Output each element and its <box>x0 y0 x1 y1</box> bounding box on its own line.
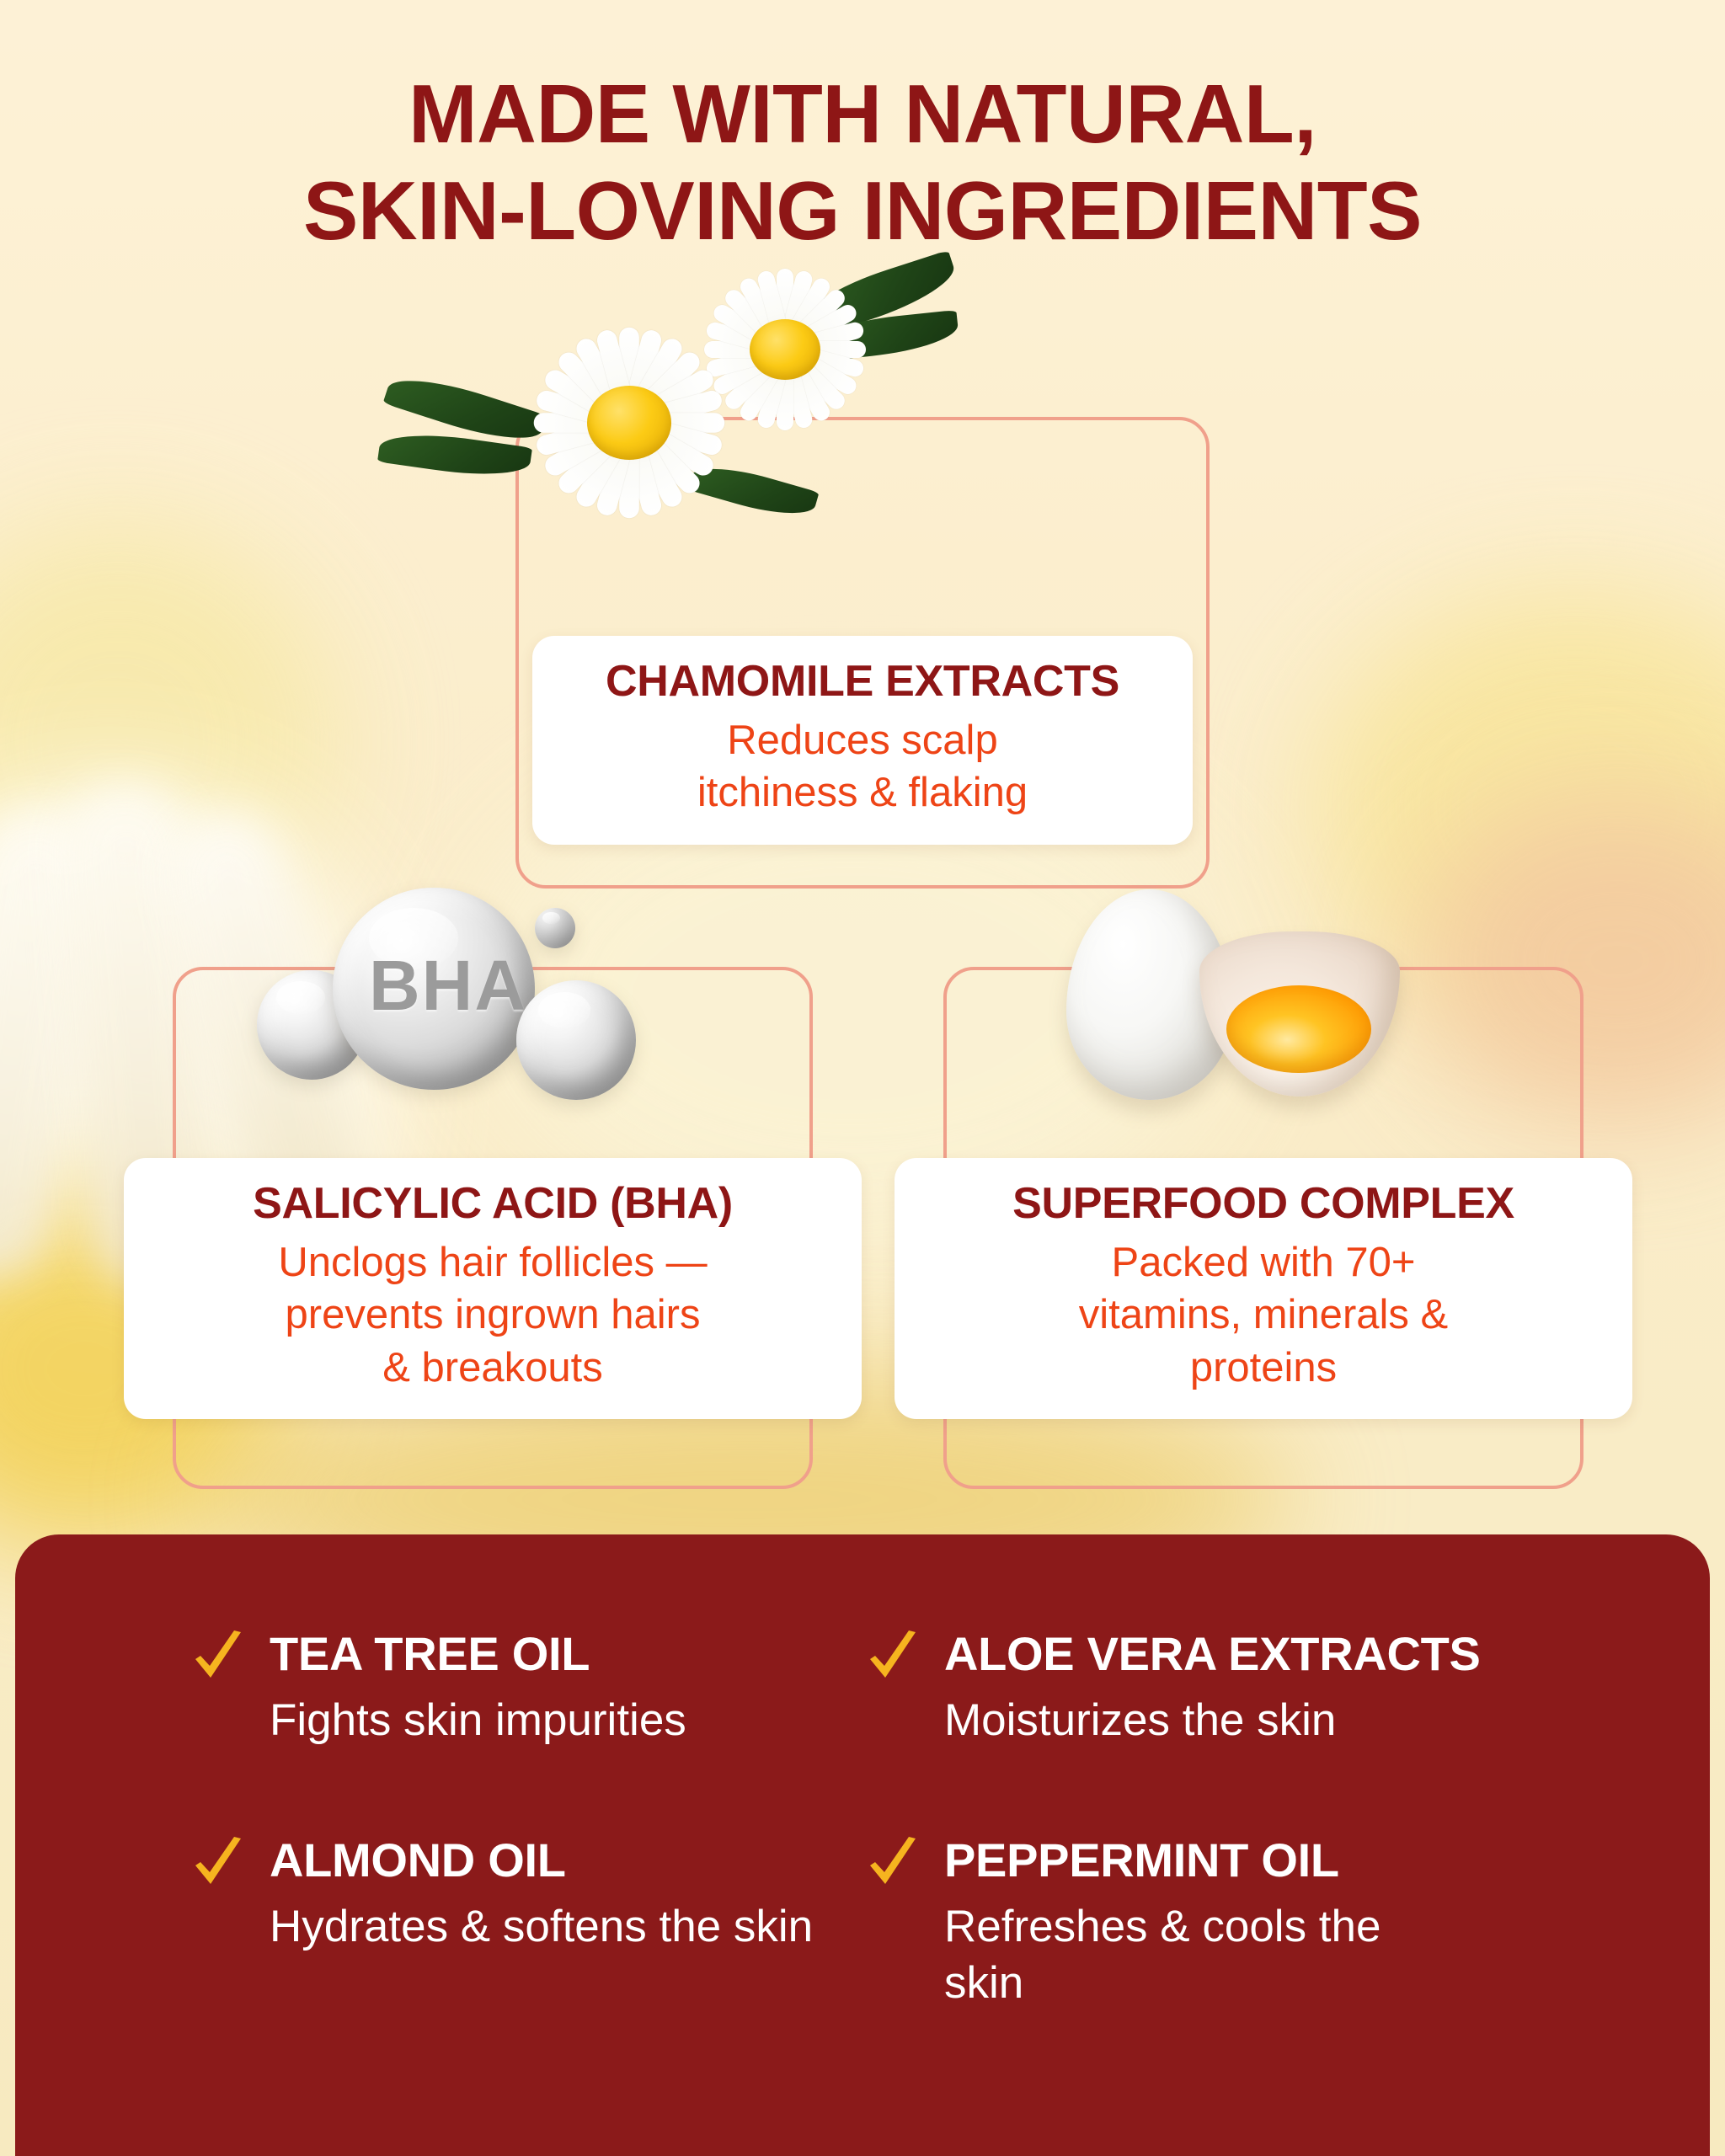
ingredient-desc-salicylic-acid-line-2: prevents ingrown hairs <box>142 1289 843 1341</box>
ingredient-card-superfood-complex[interactable]: SUPERFOOD COMPLEX Packed with 70+ vitami… <box>943 967 1583 1489</box>
card-info-superfood-complex: SUPERFOOD COMPLEX Packed with 70+ vitami… <box>895 1158 1632 1419</box>
ingredient-desc-salicylic-acid: Unclogs hair follicles — prevents ingrow… <box>142 1236 843 1394</box>
ingredient-card-chamomile[interactable]: CHAMOMILE EXTRACTS Reduces scalp itchine… <box>515 417 1210 889</box>
page-title-line-2: SKIN-LOVING INGREDIENTS <box>0 163 1725 259</box>
page-title-line-1: MADE WITH NATURAL, <box>0 66 1725 163</box>
benefit-item-aloe-vera-extracts[interactable]: ALOE VERA EXTRACTS Moisturizes the skin <box>867 1629 1541 1749</box>
ingredient-desc-chamomile: Reduces scalp itchiness & flaking <box>551 714 1174 819</box>
ingredients-infographic: MADE WITH NATURAL, SKIN-LOVING INGREDIEN… <box>0 0 1725 2156</box>
ingredient-desc-superfood-complex-line-1: Packed with 70+ <box>913 1236 1614 1289</box>
benefit-item-peppermint-oil[interactable]: PEPPERMINT OIL Refreshes & cools the ski… <box>867 1835 1541 2012</box>
check-icon <box>867 1835 919 1894</box>
ingredient-desc-superfood-complex-line-2: vitamins, minerals & <box>913 1289 1614 1341</box>
card-info-salicylic-acid: SALICYLIC ACID (BHA) Unclogs hair follic… <box>124 1158 862 1419</box>
ingredient-desc-salicylic-acid-line-3: & breakouts <box>142 1342 843 1394</box>
benefit-title-peppermint-oil: PEPPERMINT OIL <box>944 1833 1339 1886</box>
ingredient-card-salicylic-acid[interactable]: BHA SALICYLIC ACID (BHA) Unclogs hair fo… <box>173 967 813 1489</box>
card-info-chamomile: CHAMOMILE EXTRACTS Reduces scalp itchine… <box>532 636 1193 845</box>
benefit-item-almond-oil[interactable]: ALMOND OIL Hydrates & softens the skin <box>192 1835 867 2012</box>
check-icon <box>192 1835 244 1894</box>
benefit-desc-almond-oil: Hydrates & softens the skin <box>270 1898 813 1955</box>
ingredient-name-chamomile: CHAMOMILE EXTRACTS <box>551 658 1174 706</box>
ingredient-desc-salicylic-acid-line-1: Unclogs hair follicles — <box>142 1236 843 1289</box>
page-title: MADE WITH NATURAL, SKIN-LOVING INGREDIEN… <box>0 66 1725 259</box>
ingredient-desc-superfood-complex-line-3: proteins <box>913 1342 1614 1394</box>
benefits-panel: TEA TREE OIL Fights skin impurities ALOE… <box>15 1534 1710 2156</box>
ingredient-desc-superfood-complex: Packed with 70+ vitamins, minerals & pro… <box>913 1236 1614 1394</box>
check-icon <box>867 1629 919 1688</box>
ingredient-name-superfood-complex: SUPERFOOD COMPLEX <box>913 1180 1614 1228</box>
benefit-desc-aloe-vera-extracts: Moisturizes the skin <box>944 1692 1481 1748</box>
benefit-item-tea-tree-oil[interactable]: TEA TREE OIL Fights skin impurities <box>192 1629 867 1749</box>
ingredient-desc-chamomile-line-1: Reduces scalp <box>551 714 1174 766</box>
benefit-desc-peppermint-oil: Refreshes & cools the skin <box>944 1898 1466 2012</box>
ingredient-name-salicylic-acid: SALICYLIC ACID (BHA) <box>142 1180 843 1228</box>
benefit-desc-tea-tree-oil: Fights skin impurities <box>270 1692 686 1748</box>
benefits-grid: TEA TREE OIL Fights skin impurities ALOE… <box>15 1629 1710 2012</box>
benefit-title-tea-tree-oil: TEA TREE OIL <box>270 1627 590 1680</box>
benefit-title-almond-oil: ALMOND OIL <box>270 1833 566 1886</box>
check-icon <box>192 1629 244 1688</box>
benefit-title-aloe-vera-extracts: ALOE VERA EXTRACTS <box>944 1627 1481 1680</box>
ingredient-desc-chamomile-line-2: itchiness & flaking <box>551 766 1174 819</box>
